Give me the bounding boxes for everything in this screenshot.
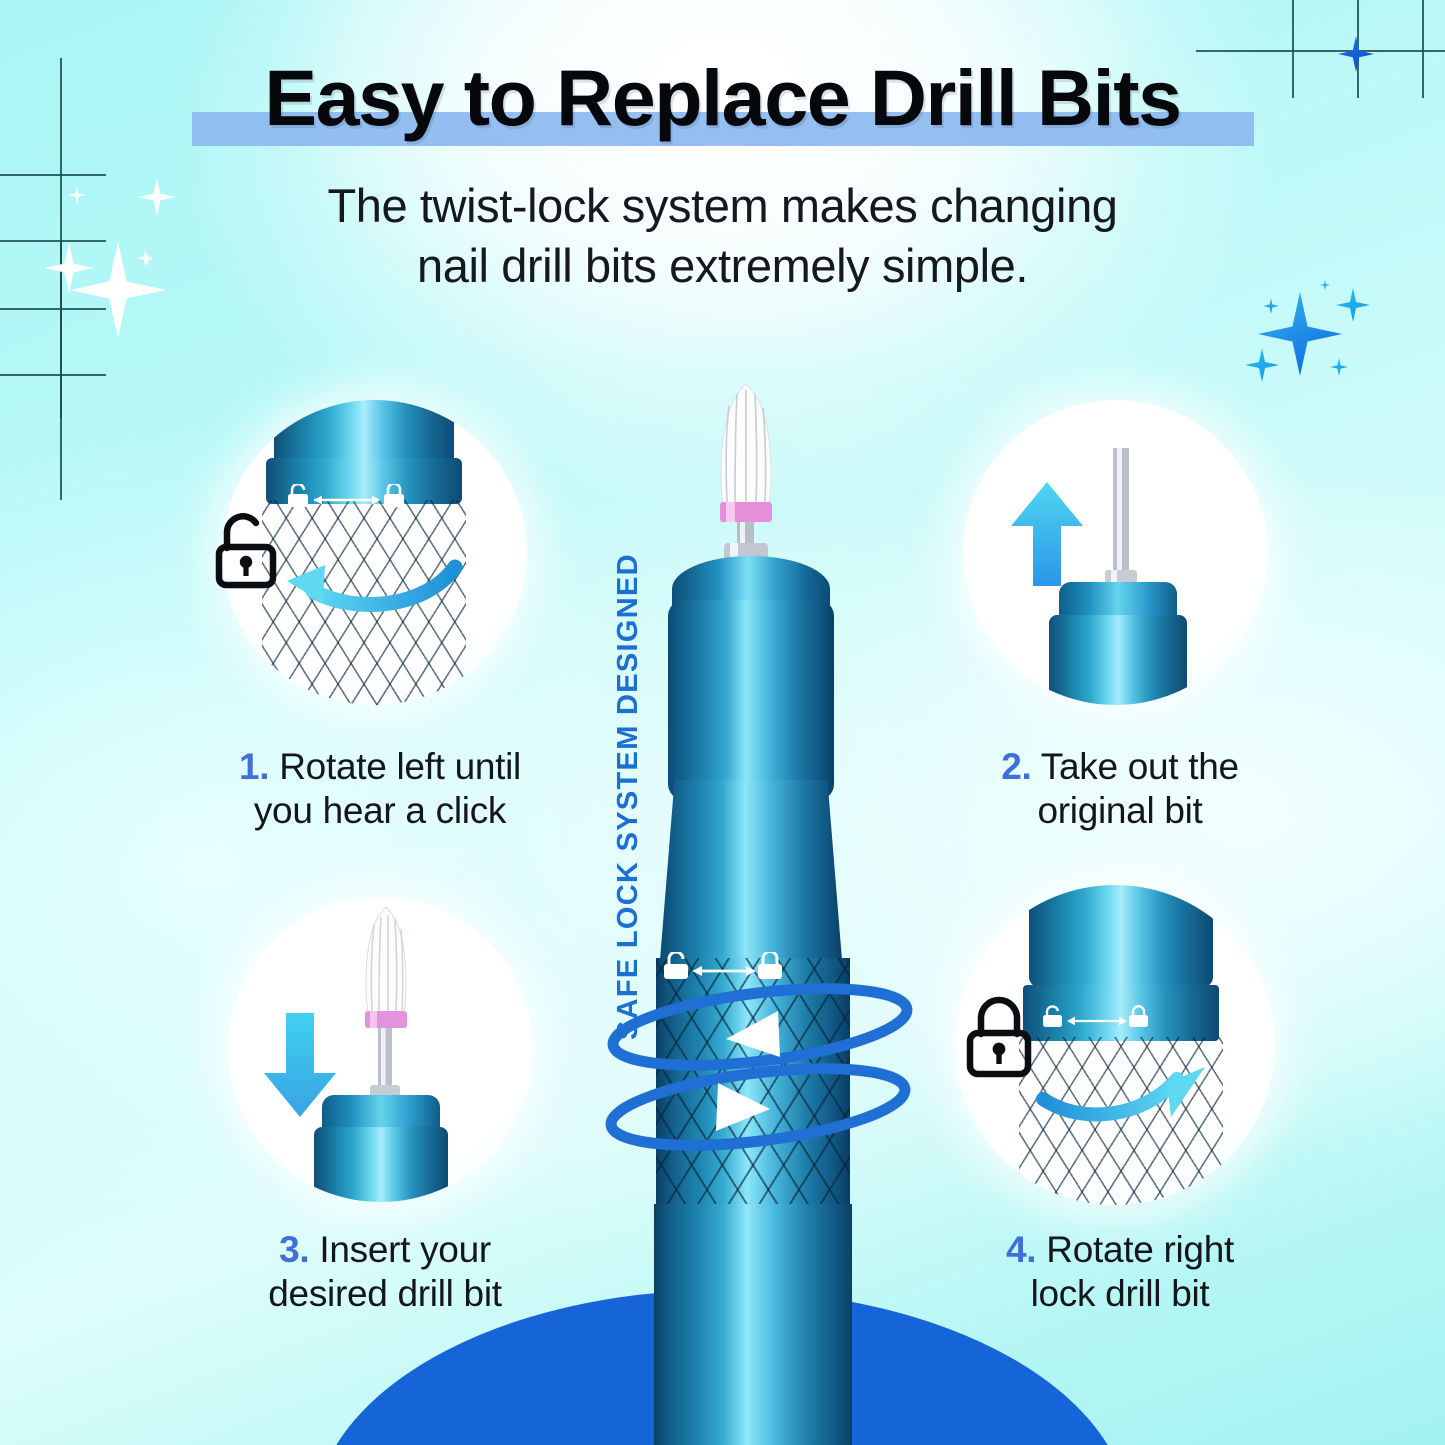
arrow-up-icon bbox=[1011, 478, 1111, 628]
unlock-icon bbox=[205, 508, 283, 598]
step-3-line-1: Insert your bbox=[319, 1229, 491, 1270]
collar-upper bbox=[1029, 885, 1213, 987]
step-3-caption: 3. Insert your desired drill bit bbox=[155, 1228, 615, 1317]
handpiece-lower-body bbox=[654, 1204, 852, 1445]
step-1-line-1: Rotate left until bbox=[279, 746, 521, 787]
step-1-line-2: you hear a click bbox=[254, 790, 506, 831]
lock-marking-row bbox=[288, 484, 438, 514]
step-4-caption: 4. Rotate right lock drill bit bbox=[890, 1228, 1350, 1317]
infographic-canvas: Easy to Replace Drill Bits The twist-loc… bbox=[0, 0, 1445, 1445]
handpiece-body bbox=[1049, 615, 1187, 705]
handpiece-mid-body bbox=[660, 780, 842, 960]
step-2-caption: 2. Take out the original bit bbox=[890, 745, 1350, 834]
step-2-number: 2. bbox=[1001, 746, 1031, 787]
curved-arrow-left-icon bbox=[277, 545, 467, 625]
step-3-number: 3. bbox=[279, 1229, 309, 1270]
handpiece-upper-body bbox=[668, 600, 834, 800]
step-1-caption: 1. Rotate left until you hear a click bbox=[150, 745, 610, 834]
barrel-text: SAFE LOCK SYSTEM DESIGNED bbox=[612, 553, 645, 1040]
step-2-line-2: original bit bbox=[1037, 790, 1202, 831]
step-3-illustration bbox=[228, 897, 533, 1202]
step-2-illustration bbox=[963, 400, 1268, 705]
step-4-number: 4. bbox=[1006, 1229, 1036, 1270]
step-4-line-2: lock drill bit bbox=[1031, 1273, 1210, 1314]
step-4-line-1: Rotate right bbox=[1046, 1229, 1234, 1270]
step-1-number: 1. bbox=[239, 746, 269, 787]
lock-icon bbox=[958, 992, 1036, 1084]
curved-arrow-right-icon bbox=[1035, 1057, 1235, 1137]
step-3-line-2: desired drill bit bbox=[268, 1273, 501, 1314]
arrow-down-icon bbox=[264, 1005, 364, 1155]
step-2-line-1: Take out the bbox=[1041, 746, 1239, 787]
lock-marking-row bbox=[1043, 1005, 1193, 1035]
